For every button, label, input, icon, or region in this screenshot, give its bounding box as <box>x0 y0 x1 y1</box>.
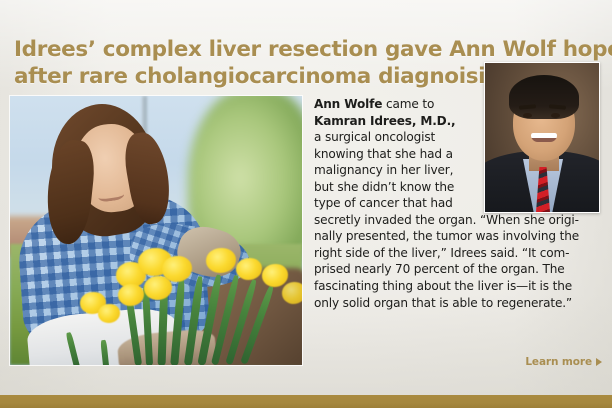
learn-more-label: Learn more <box>525 356 592 368</box>
article-line: type of cancer that had <box>314 195 482 212</box>
article-line: fascinating thing about the liver is—it … <box>314 278 602 295</box>
garden-photo <box>10 96 302 365</box>
story-card: Idrees’ complex liver resection gave Ann… <box>0 0 612 408</box>
article-line-text: came to <box>382 97 434 111</box>
article-line: secretly invaded the organ. “When she or… <box>314 212 602 229</box>
doctor-name: Kamran Idrees, M.D., <box>314 114 455 128</box>
learn-more-link[interactable]: Learn more <box>525 356 602 368</box>
article-line: malignancy in her liver, <box>314 162 482 179</box>
article-line: knowing that she had a <box>314 146 482 163</box>
headline-line-1: Idrees’ complex liver resection gave Ann… <box>14 36 586 63</box>
article-line: Ann Wolfe came to <box>314 96 482 113</box>
article-line: a surgical oncologist <box>314 129 482 146</box>
bottom-accent-bar <box>0 395 612 408</box>
article-body: Ann Wolfe came to Kamran Idrees, M.D., a… <box>314 96 602 311</box>
article-line: nally presented, the tumor was involving… <box>314 228 602 245</box>
article-line: but she didn’t know the <box>314 179 482 196</box>
article-line: Kamran Idrees, M.D., <box>314 113 482 130</box>
photo-daffodil <box>282 282 302 304</box>
article-line: only solid organ that is able to regener… <box>314 295 602 312</box>
chevron-right-icon <box>596 358 602 366</box>
article-line: prised nearly 70 percent of the organ. T… <box>314 261 602 278</box>
patient-name: Ann Wolfe <box>314 97 382 111</box>
article-line: right side of the liver,” Idrees said. “… <box>314 245 602 262</box>
